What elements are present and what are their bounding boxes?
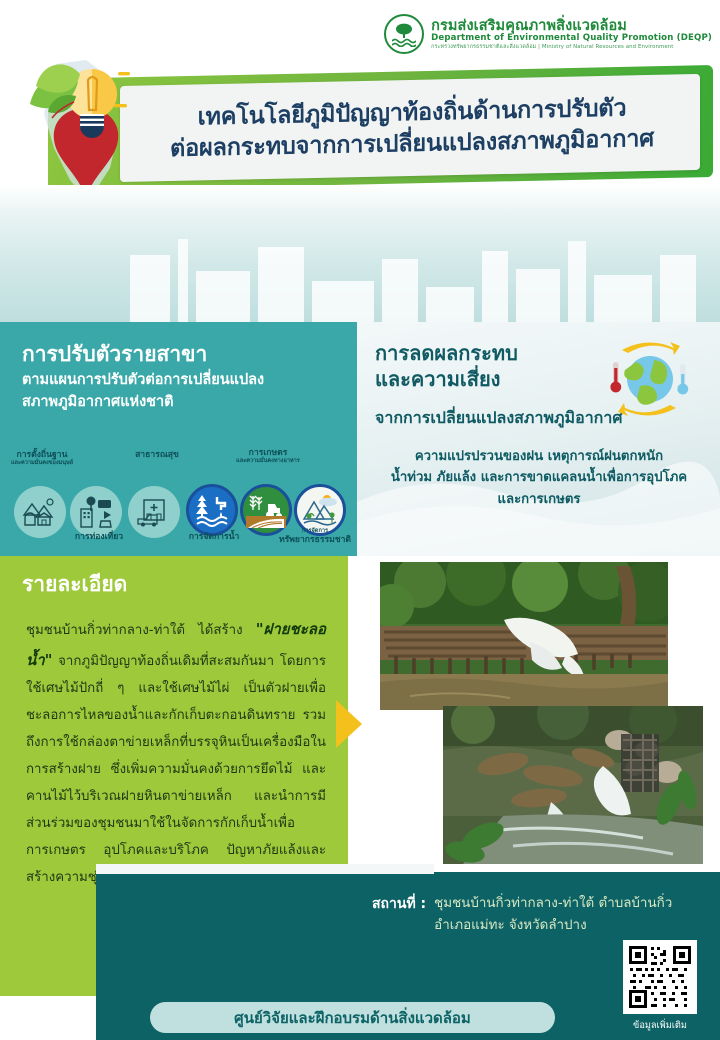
settlement-houses-icon bbox=[14, 486, 66, 538]
sector-item-water[interactable] bbox=[186, 484, 238, 536]
photo-1-graphic bbox=[380, 562, 668, 710]
globe-thermometer-icon bbox=[600, 336, 698, 422]
location-label: สถานที่ : bbox=[372, 893, 426, 915]
sector-label-settlement: การตั้งถิ่นฐาน และความมั่นคงของมนุษย์ bbox=[2, 450, 82, 467]
city-skyline-graphic bbox=[0, 225, 720, 325]
check-dam-waterfall-photo bbox=[380, 562, 668, 710]
sector-subtitle-line-2: สภาพภูมิอากาศแห่งชาติ bbox=[22, 392, 342, 414]
water-tap-river-icon bbox=[186, 484, 238, 536]
impact-title-line-1: การลดผลกระทบ bbox=[375, 340, 518, 366]
hospital-glyph bbox=[135, 497, 173, 527]
qr-code-graphic bbox=[627, 944, 693, 1010]
natural-resource-glyph bbox=[300, 493, 340, 527]
tourism-glyph bbox=[78, 496, 114, 528]
sector-panel-subtitle: ตามแผนการปรับตัวต่อการเปลี่ยนแปลง สภาพภู… bbox=[22, 370, 342, 414]
poster-root: กรมส่งเสริมคุณภาพสิ่งแวดล้อม Department … bbox=[0, 0, 720, 1040]
sector-label-agriculture: การเกษตร และความมั่นคงทางอาหาร bbox=[226, 448, 310, 465]
sector-icon-strip: การตั้งถิ่นฐาน และความมั่นคงของมนุษย์ bbox=[0, 448, 357, 550]
impact-reduction-panel: การลดผลกระทบ และความเสี่ยง จากการเปลี่ยน… bbox=[357, 322, 720, 556]
settlement-glyph bbox=[22, 497, 58, 527]
org-name-en: Department of Environmental Quality Prom… bbox=[431, 34, 712, 44]
impact-body-line-2: น้ำท่วม ภัยแล้ง และการขาดแคลนน้ำเพื่อการ… bbox=[371, 467, 707, 488]
detail-panel-body: ชุมชนบ้านกิ่วท่ากลาง-ท่าใต้ ได้สร้าง "ฝา… bbox=[26, 614, 326, 892]
impact-panel-body: ความแปรปรวนของฝน เหตุการณ์ฝนตกหนัก น้ำท่… bbox=[371, 446, 707, 510]
page-title: เทคโนโลยีภูมิปัญญาท้องถิ่นด้านการปรับตัว… bbox=[128, 78, 696, 178]
water-waves-glyph bbox=[392, 38, 416, 47]
impact-body-line-1: ความแปรปรวนของฝน เหตุการณ์ฝนตกหนัก bbox=[371, 446, 707, 467]
impact-title-line-2: และความเสี่ยง bbox=[375, 366, 518, 392]
water-glyph bbox=[193, 493, 231, 527]
detail-panel-title: รายละเอียด bbox=[22, 568, 127, 601]
sector-subtitle-line-1: ตามแผนการปรับตัวต่อการเปลี่ยนแปลง bbox=[22, 370, 342, 392]
detail-text-part-2: จากภูมิปัญญาท้องถิ่นเดิมที่สะสมกันมา โดย… bbox=[26, 654, 326, 885]
sector-label-public-health: สาธารณสุข bbox=[118, 450, 196, 460]
impact-body-line-3: และการเกษตร bbox=[371, 489, 707, 510]
agriculture-glyph bbox=[246, 492, 286, 528]
org-name-th: กรมส่งเสริมคุณภาพสิ่งแวดล้อม bbox=[431, 18, 712, 34]
location-line-1: ชุมชนบ้านกิ่วท่ากลาง-ท่าใต้ ตำบลบ้านกิ่ว bbox=[434, 896, 672, 911]
hospital-ambulance-icon bbox=[128, 486, 180, 538]
photo-2-graphic bbox=[443, 706, 703, 864]
sector-item-tourism[interactable] bbox=[70, 486, 122, 538]
footer-white-gap bbox=[96, 864, 434, 874]
deqp-logo: กรมส่งเสริมคุณภาพสิ่งแวดล้อม Department … bbox=[384, 14, 712, 54]
tech-name-band: ชื่อเทคโนโลยี : "ฝายชะลอน้ำ" ภูมิปัญญาท้… bbox=[0, 185, 720, 325]
footer-pill[interactable]: ศูนย์วิจัยและฝึกอบรมด้านสิ่งแวดล้อม bbox=[150, 1002, 555, 1033]
location-line-2: อำเภอแม่ทะ จังหวัดลำปาง bbox=[434, 918, 586, 933]
detail-text-part-1: ชุมชนบ้านกิ่วท่ากลาง-ท่าใต้ ได้สร้าง bbox=[26, 623, 256, 638]
qr-caption: ข้อมูลเพิ่มเติม bbox=[614, 1018, 706, 1033]
tourism-city-car-icon bbox=[70, 486, 122, 538]
sector-item-public-health[interactable] bbox=[128, 486, 180, 538]
footer-label: ศูนย์วิจัยและฝึกอบรมด้านสิ่งแวดล้อม bbox=[234, 1006, 471, 1030]
sector-label-natural-resource: การจัดการ ทรัพยากรธรรมชาติ bbox=[272, 528, 358, 545]
org-ministry: กระทรวงทรัพยากรธรรมชาติและสิ่งแวดล้อม | … bbox=[431, 44, 712, 50]
impact-panel-title: การลดผลกระทบ และความเสี่ยง bbox=[375, 340, 518, 393]
impact-panel-subtitle: จากการเปลี่ยนแปลงสภาพภูมิอากาศ bbox=[375, 406, 623, 431]
check-dam-stream-photo bbox=[443, 706, 703, 864]
yellow-arrow-accent bbox=[336, 700, 362, 748]
location-block: สถานที่ : ชุมชนบ้านกิ่วท่ากลาง-ท่าใต้ ตำ… bbox=[372, 893, 712, 936]
sector-panel-title: การปรับตัวรายสาขา bbox=[22, 338, 207, 371]
tree-glyph bbox=[394, 23, 414, 39]
sector-item-settlement[interactable] bbox=[14, 486, 66, 538]
green-left-edge-strip bbox=[0, 934, 96, 996]
tree-in-circle-icon bbox=[384, 14, 424, 54]
qr-code-icon[interactable] bbox=[623, 940, 697, 1014]
location-value: ชุมชนบ้านกิ่วท่ากลาง-ท่าใต้ ตำบลบ้านกิ่ว… bbox=[434, 893, 672, 936]
